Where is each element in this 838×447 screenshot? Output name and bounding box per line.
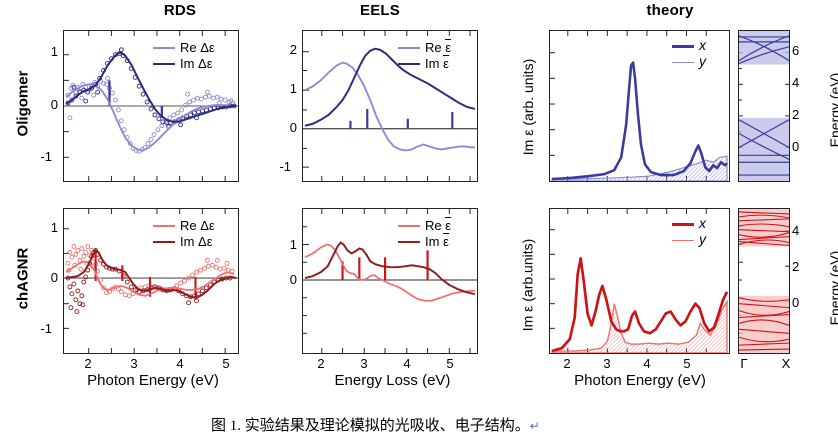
legend-rds-chagnr: Re Δε Im Δε <box>153 218 215 250</box>
figure-caption: 图 1. 实验结果及理论模拟的光吸收、电子结构。↵ <box>211 414 540 435</box>
ytick-rds-oligomer-m1: -1 <box>30 149 52 164</box>
legend-swatch-im <box>398 63 420 65</box>
legend-item-im: Im ε <box>398 56 451 72</box>
xlabel-eels: Energy Loss (eV) <box>300 372 485 389</box>
row-label-oligomer: Oligomer <box>15 59 32 149</box>
ytick-bands-chagnr-4: 4 <box>792 223 814 238</box>
legend-swatch-im <box>398 241 420 243</box>
legend-label-re: Re ε <box>425 218 451 234</box>
legend-swatch-x <box>672 223 694 226</box>
ytick-eels-oligomer-0: 0 <box>275 120 297 135</box>
legend-swatch-im <box>153 63 175 65</box>
legend-item-re: Re Δε <box>153 218 215 234</box>
figure-root: RDS EELS theory Oligomer chAGNR <box>0 0 838 447</box>
legend-label-x: x <box>699 215 706 233</box>
legend-swatch-re <box>153 47 175 49</box>
legend-label-re: Re ε <box>425 40 451 56</box>
legend-label-im: Im Δε <box>180 234 213 250</box>
ytick-rds-chagnr-m1: -1 <box>30 321 52 336</box>
xtick-rds-chagnr-2: 2 <box>75 356 101 371</box>
legend-swatch-x <box>672 45 694 48</box>
legend-label-re: Re Δε <box>180 40 215 56</box>
legend-label-im: Im ε <box>425 56 449 72</box>
legend-theory-oligomer: x y <box>672 38 706 70</box>
xtick-theory-chagnr-3: 3 <box>594 356 620 371</box>
column-title-rds: RDS <box>120 2 240 19</box>
legend-item-re: Re ε <box>398 40 451 56</box>
xtick-eels-chagnr-5: 5 <box>437 356 463 371</box>
xtick-bands-gamma: Γ <box>731 356 757 371</box>
legend-label-im: Im Δε <box>180 56 213 72</box>
row-label-chagnr: chAGNR <box>15 234 32 324</box>
ytick-rds-chagnr-0: 0 <box>36 270 58 285</box>
xlabel-rds: Photon Energy (eV) <box>58 372 248 389</box>
legend-theory-chagnr: x y <box>672 216 706 248</box>
xtick-rds-chagnr-3: 3 <box>121 356 147 371</box>
xtick-rds-chagnr-4: 4 <box>167 356 193 371</box>
ytick-eels-oligomer-2: 2 <box>275 42 297 57</box>
legend-label-x: x <box>699 37 706 55</box>
column-title-theory: theory <box>600 2 740 19</box>
caption-text: 图 1. 实验结果及理论模拟的光吸收、电子结构。 <box>211 418 530 434</box>
xtick-eels-chagnr-4: 4 <box>394 356 420 371</box>
legend-swatch-re <box>153 225 175 227</box>
legend-label-im: Im ε <box>425 234 449 250</box>
chart-bands-oligomer <box>738 30 790 182</box>
legend-item-x: x <box>672 38 706 54</box>
xtick-theory-chagnr-2: 2 <box>554 356 580 371</box>
xtick-bands-x: X <box>773 356 799 371</box>
legend-item-re: Re ε <box>398 218 451 234</box>
ytick-bands-oligomer-4: 4 <box>792 75 814 90</box>
legend-swatch-re <box>398 47 420 49</box>
legend-item-y: y <box>672 232 706 248</box>
legend-item-x: x <box>672 216 706 232</box>
ytick-eels-chagnr-1: 1 <box>275 237 297 252</box>
xtick-eels-chagnr-2: 2 <box>308 356 334 371</box>
legend-item-im: Im Δε <box>153 56 215 72</box>
xtick-rds-chagnr-5: 5 <box>213 356 239 371</box>
legend-item-re: Re Δε <box>153 40 215 56</box>
ytick-bands-oligomer-2: 2 <box>792 107 814 122</box>
ytick-bands-oligomer-0: 0 <box>792 139 814 154</box>
ylabel-theory-oligomer: Im ε (arb. units) <box>520 27 536 187</box>
ytick-bands-oligomer-6: 6 <box>792 43 814 58</box>
xtick-eels-chagnr-3: 3 <box>351 356 377 371</box>
legend-swatch-im <box>153 241 175 243</box>
legend-item-y: y <box>672 54 706 70</box>
xtick-theory-chagnr-5: 5 <box>674 356 700 371</box>
ytick-bands-chagnr-0: 0 <box>792 295 814 310</box>
column-title-eels: EELS <box>310 2 450 19</box>
ylabel-theory-chagnr: Im ε (arb.units) <box>520 208 536 363</box>
ylabel-bands-oligomer: Energy (eV) <box>827 35 838 185</box>
legend-item-im: Im Δε <box>153 234 215 250</box>
ylabel-bands-chagnr: Energy (eV) <box>827 213 838 363</box>
legend-label-y: y <box>699 53 706 71</box>
chart-eels-oligomer <box>302 30 478 182</box>
legend-eels-chagnr: Re ε Im ε <box>398 218 451 250</box>
xlabel-theory: Photon Energy (eV) <box>545 372 735 389</box>
ytick-eels-oligomer-m1: -1 <box>269 159 291 174</box>
ytick-rds-oligomer-0: 0 <box>36 97 58 112</box>
legend-eels-oligomer: Re ε Im ε <box>398 40 451 72</box>
ytick-eels-oligomer-1: 1 <box>275 81 297 96</box>
chart-bands-chagnr <box>738 208 790 354</box>
ytick-bands-chagnr-2: 2 <box>792 259 814 274</box>
chart-eels-chagnr <box>302 208 478 354</box>
ytick-rds-oligomer-1: 1 <box>36 44 58 59</box>
legend-label-y: y <box>699 231 706 249</box>
legend-label-re: Re Δε <box>180 218 215 234</box>
caption-pilcrow: ↵ <box>530 419 540 433</box>
ytick-eels-chagnr-0: 0 <box>275 272 297 287</box>
legend-rds-oligomer: Re Δε Im Δε <box>153 40 215 72</box>
legend-swatch-re <box>398 225 420 227</box>
ytick-rds-chagnr-1: 1 <box>36 220 58 235</box>
legend-swatch-y <box>672 240 694 241</box>
legend-swatch-y <box>672 62 694 63</box>
xtick-theory-chagnr-4: 4 <box>634 356 660 371</box>
legend-item-im: Im ε <box>398 234 451 250</box>
